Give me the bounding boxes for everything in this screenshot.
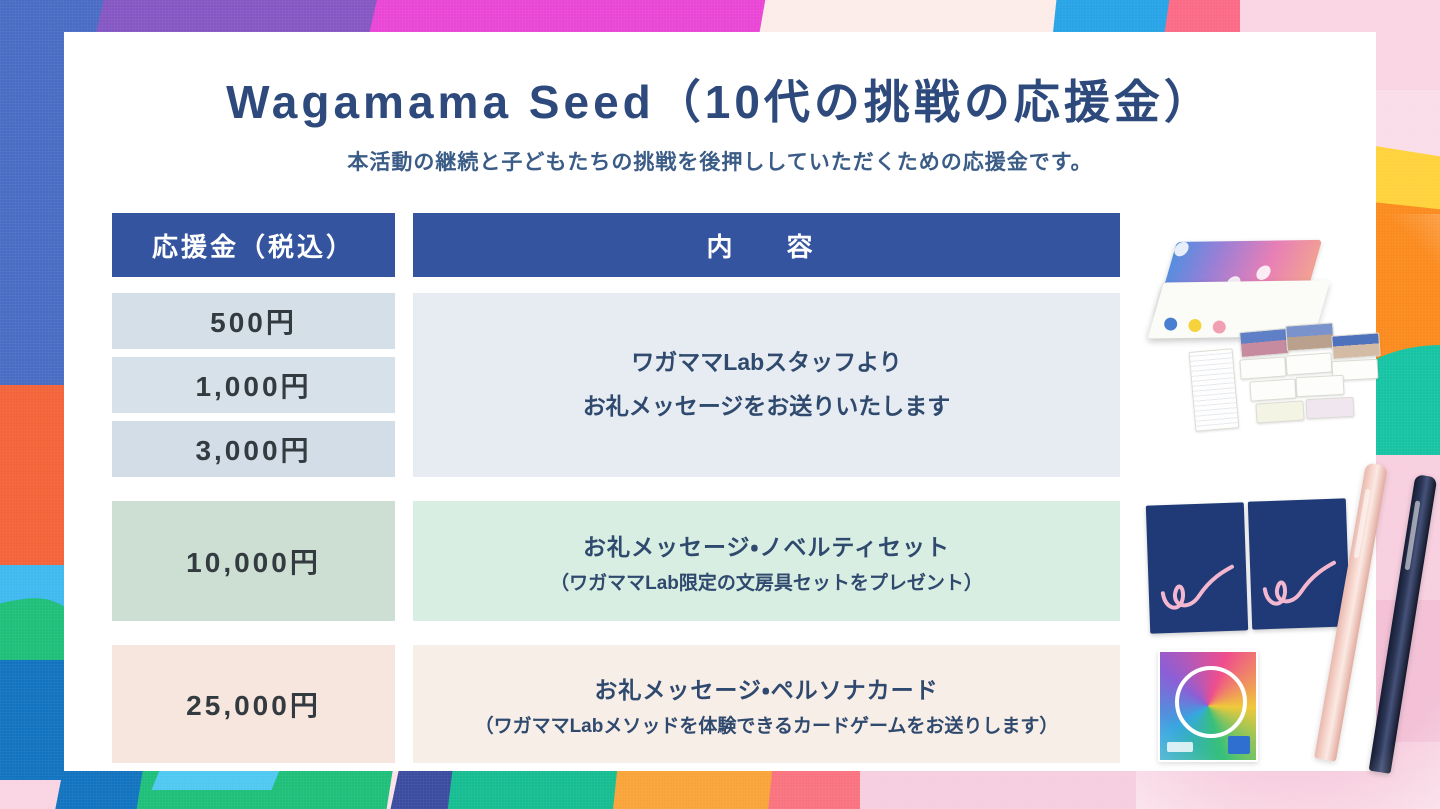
column-header-content: 内 容 (413, 213, 1120, 277)
table-row: 25,000円 お礼メッセージ・ペルソナカード （ワガママLabメソッドを体験で… (112, 645, 1120, 771)
wagamama-swoosh-logo-icon (1260, 557, 1340, 612)
product-photo-collage (1144, 222, 1440, 802)
slide-canvas: Wagamama Seed（10代の挑戦の応援金） 本活動の継続と子どもたちの挑… (0, 0, 1440, 809)
row-spacer (112, 277, 1120, 293)
content-line-2: お礼メッセージをお送りいたします (583, 385, 951, 429)
persona-card-logo-icon (1167, 742, 1193, 752)
content-line-1: ワガママLabスタッフより (631, 341, 901, 385)
wagamama-lab-clear-file-photo (1248, 498, 1350, 629)
content-main-10000: お礼メッセージ・ノベルティセット (583, 528, 950, 562)
content-main-25000: お礼メッセージ・ペルソナカード (594, 671, 938, 705)
game-card-photo (1239, 328, 1289, 358)
content-sub-25000: （ワガママLabメソッドを体験できるカードゲームをお送りします） (475, 711, 1059, 738)
persona-card-badge-icon (1228, 736, 1250, 754)
persona-card-photo (1158, 650, 1258, 762)
game-card-photo (1285, 352, 1332, 375)
page-title: Wagamama Seed（10代の挑戦の応援金） (64, 66, 1376, 132)
wagamama-lab-ballpoint-pen-photo (1369, 474, 1438, 774)
content-cell-25000: お礼メッセージ・ペルソナカード （ワガママLabメソッドを体験できるカードゲーム… (413, 645, 1120, 763)
amount-cell-500: 500円 (112, 293, 395, 349)
persona-card-ring-icon (1175, 666, 1247, 738)
wagamama-swoosh-logo-icon (1158, 561, 1238, 616)
amount-cell-3000: 3,000円 (112, 421, 395, 477)
content-cell-10000: お礼メッセージ・ノベルティセット （ワガママLab限定の文房具セットをプレゼント… (413, 501, 1120, 621)
amount-cell-25000: 25,000円 (112, 645, 395, 763)
box-lid-heart-icon (1255, 265, 1273, 280)
game-card-photo (1296, 375, 1345, 397)
content-card: Wagamama Seed（10代の挑戦の応援金） 本活動の継続と子どもたちの挑… (64, 32, 1376, 771)
wagamama-lab-clear-file-photo (1146, 502, 1248, 633)
row-spacer (112, 629, 1120, 645)
game-card-photo (1331, 332, 1381, 359)
column-header-amount: 応援金（税込） (112, 213, 395, 277)
game-card-photo (1285, 322, 1335, 351)
row-spacer (112, 485, 1120, 501)
game-card-photo (1255, 400, 1304, 423)
amount-cell-10000: 10,000円 (112, 501, 395, 621)
amount-group-small-tiers: 500円 1,000円 3,000円 (112, 293, 395, 485)
content-cell-small-tiers: ワガママLabスタッフより お礼メッセージをお送りいたします (413, 293, 1120, 477)
instruction-sheet-photo (1189, 348, 1240, 432)
box-lid-circle-icon (1173, 242, 1191, 257)
table-header-row: 応援金（税込） 内 容 (112, 213, 1120, 277)
amount-cell-1000: 1,000円 (112, 357, 395, 413)
pen-clip-icon (1353, 489, 1370, 559)
support-tier-table: 応援金（税込） 内 容 500円 1,000円 3,000円 ワガママLabスタ… (112, 213, 1120, 771)
game-card-photo (1306, 397, 1355, 419)
game-card-photo (1239, 356, 1286, 379)
game-card-photo (1249, 378, 1296, 401)
content-sub-10000: （ワガママLab限定の文房具セットをプレゼント） (550, 568, 983, 595)
pen-clip-icon (1405, 500, 1421, 570)
page-subtitle: 本活動の継続と子どもたちの挑戦を後押ししていただくための応援金です。 (64, 146, 1376, 176)
table-row: 10,000円 お礼メッセージ・ノベルティセット （ワガママLab限定の文房具セ… (112, 501, 1120, 629)
table-row: 500円 1,000円 3,000円 ワガママLabスタッフより お礼メッセージ… (112, 293, 1120, 485)
